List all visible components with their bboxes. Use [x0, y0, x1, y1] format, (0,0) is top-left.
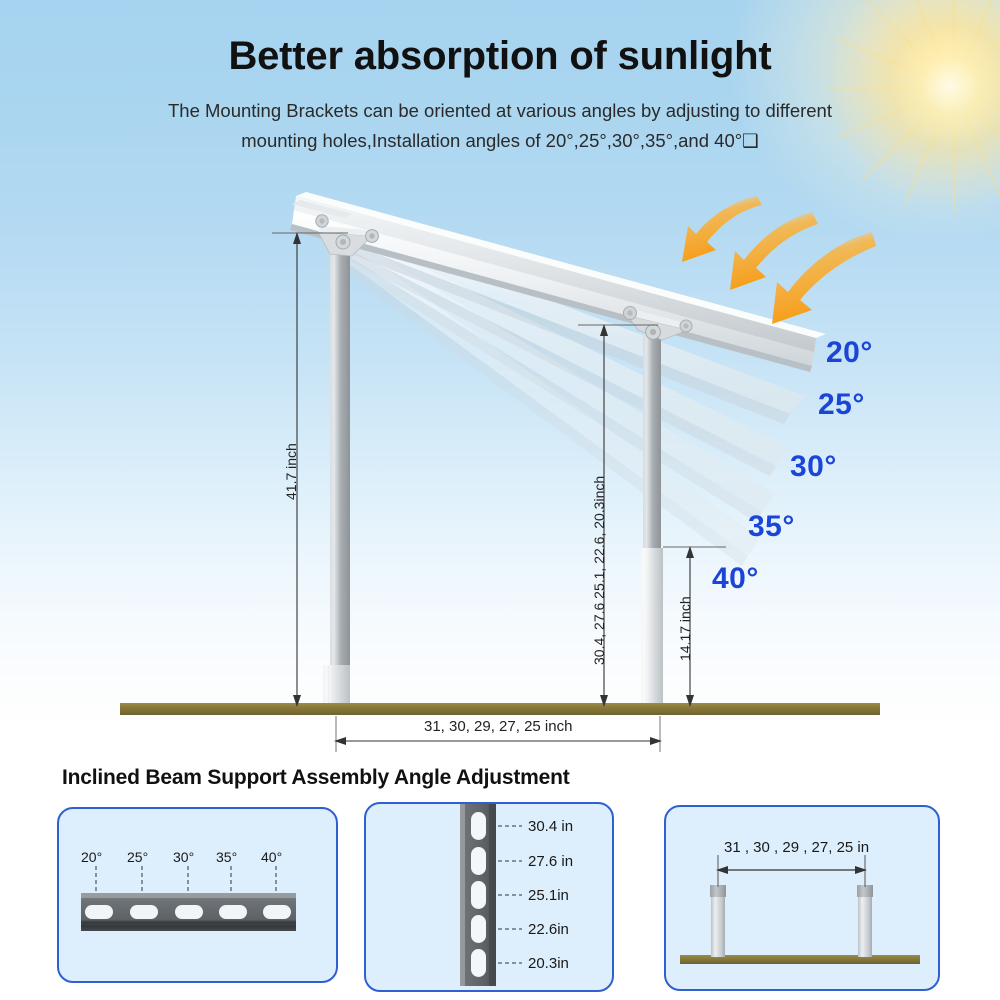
infographic-root: Better absorption of sunlight The Mounti… [0, 0, 1000, 1000]
panel2-label-3: 25.1in [528, 887, 569, 904]
panel2-label-5: 20.3in [528, 955, 569, 972]
dim-beam-drop: 30.4, 27.6 25.1, 22.6, 20.3inch [591, 476, 607, 665]
dim-right-post-height: 14.17 inch [677, 596, 693, 661]
right-post [641, 330, 663, 710]
angle-label-20: 20° [826, 336, 873, 370]
panel1-label-30: 30° [173, 849, 194, 865]
panel-span-diagram: 31 , 30 , 29 , 27, 25 in [664, 805, 940, 991]
panel-angle-bracket: 20° 25° 30° 35° 40° [57, 807, 338, 983]
angle-label-40: 40° [712, 562, 759, 596]
panel-vertical-bracket: 30.4 in 27.6 in 25.1in 22.6in 20.3in [364, 802, 614, 992]
angle-bracket-drawing [59, 809, 332, 977]
dim-span: 31, 30, 29, 27, 25 inch [424, 718, 572, 735]
panel2-label-1: 30.4 in [528, 818, 573, 835]
sun-arrow-1 [682, 196, 762, 262]
panel1-label-35: 35° [216, 849, 237, 865]
angle-label-30: 30° [790, 450, 837, 484]
sun-arrow-3 [772, 232, 876, 324]
span-drawing [666, 807, 934, 985]
panel1-label-20: 20° [81, 849, 102, 865]
panel2-label-4: 22.6in [528, 921, 569, 938]
left-post [323, 238, 350, 710]
angle-label-35: 35° [748, 510, 795, 544]
panel2-label-2: 27.6 in [528, 853, 573, 870]
panel1-label-25: 25° [127, 849, 148, 865]
panel1-label-40: 40° [261, 849, 282, 865]
section-heading: Inclined Beam Support Assembly Angle Adj… [62, 766, 570, 790]
panel3-span-label: 31 , 30 , 29 , 27, 25 in [724, 839, 869, 856]
ground-bar [120, 703, 880, 715]
angle-label-25: 25° [818, 388, 865, 422]
dim-left-post-height: 41.7 inch [283, 443, 299, 500]
